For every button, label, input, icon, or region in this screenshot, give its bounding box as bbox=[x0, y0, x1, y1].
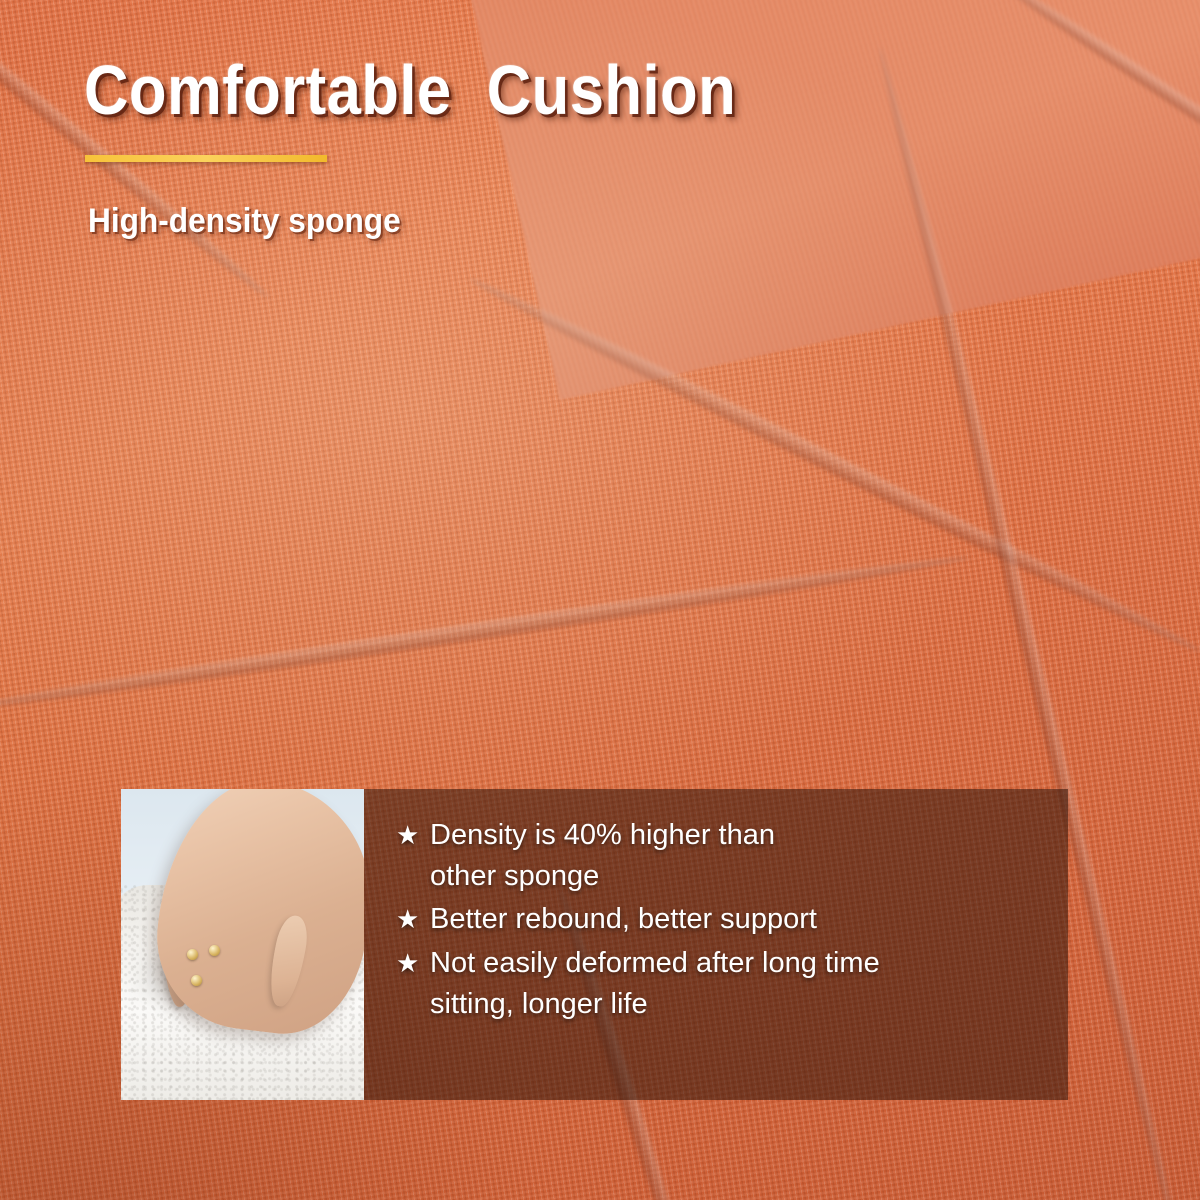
list-item: ★ Not easily deformed after long time si… bbox=[396, 943, 1048, 1025]
star-icon: ★ bbox=[396, 943, 430, 983]
ring-icon bbox=[187, 949, 198, 960]
feature-panel: ★ Density is 40% higher than other spong… bbox=[121, 789, 1068, 1100]
ring-icon bbox=[191, 975, 202, 986]
foam-demo-photo bbox=[121, 789, 364, 1100]
list-item-label: Not easily deformed after long time sitt… bbox=[430, 943, 1048, 1025]
list-item: ★ Better rebound, better support bbox=[396, 899, 1048, 940]
list-item: ★ Density is 40% higher than other spong… bbox=[396, 815, 1048, 897]
star-icon: ★ bbox=[396, 899, 430, 939]
star-icon: ★ bbox=[396, 815, 430, 855]
feature-bullet-list: ★ Density is 40% higher than other spong… bbox=[364, 789, 1068, 1100]
page-title: Comfortable Cushion bbox=[84, 55, 736, 125]
page-subtitle: High-density sponge bbox=[88, 204, 401, 238]
ring-icon bbox=[209, 945, 220, 956]
title-underline-rule bbox=[85, 155, 327, 162]
product-feature-banner: Comfortable Cushion High-density sponge … bbox=[0, 0, 1200, 1200]
list-item-label: Better rebound, better support bbox=[430, 899, 1048, 940]
list-item-label: Density is 40% higher than other sponge bbox=[430, 815, 1048, 897]
